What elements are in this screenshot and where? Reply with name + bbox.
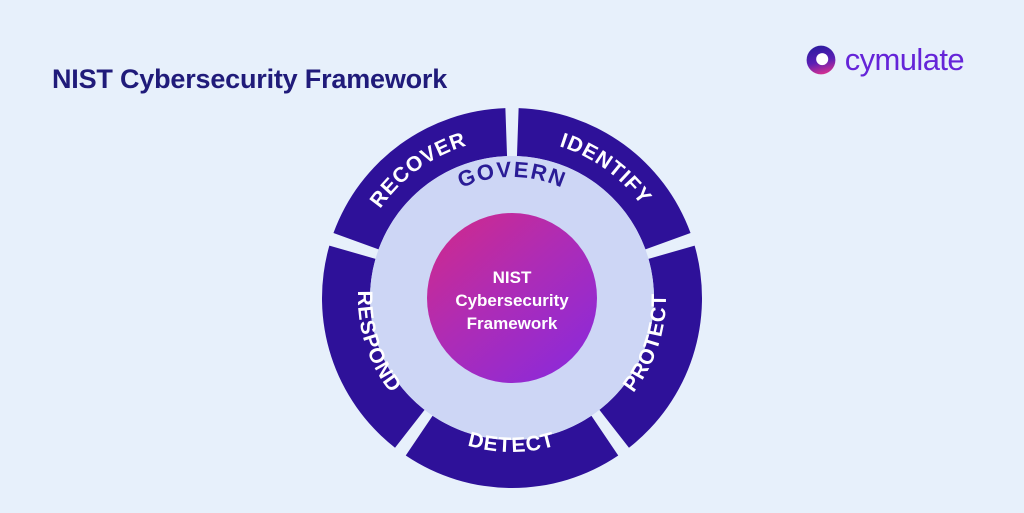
- core-text-line3: Framework: [467, 314, 558, 333]
- core-text-line1: NIST: [493, 268, 532, 287]
- cymulate-ring-icon: [806, 45, 836, 75]
- cymulate-wordmark: cymulate: [845, 44, 964, 75]
- page-title: NIST Cybersecurity Framework: [52, 64, 447, 95]
- core-text-line2: Cybersecurity: [455, 291, 569, 310]
- page-root: NIST Cybersecurity Framework cymulate: [0, 0, 1024, 513]
- cymulate-logo: cymulate: [806, 44, 964, 75]
- wheel-svg: IDENTIFYPROTECTDETECTRESPONDRECOVER GOVE…: [312, 98, 712, 498]
